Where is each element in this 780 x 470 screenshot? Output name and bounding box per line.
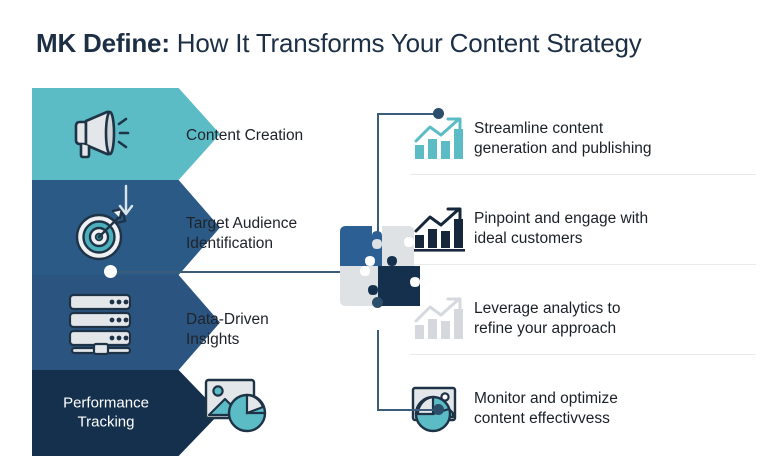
connector-dot-benefit-4 bbox=[433, 404, 444, 415]
connector-funnel-to-puzzle bbox=[110, 271, 340, 273]
stage-label-data-insights: Data-Driven Insights bbox=[186, 310, 269, 350]
stage-4-inner-label: Performance Tracking bbox=[40, 394, 172, 432]
bar-chart-growth-icon-teal bbox=[408, 115, 470, 163]
benefit-item-monitor[interactable]: Monitor and optimize content effectivves… bbox=[408, 366, 758, 452]
image-pie-icon-performance bbox=[203, 377, 271, 440]
megaphone-icon bbox=[66, 108, 132, 165]
benefit-item-streamline[interactable]: Streamline content generation and publis… bbox=[408, 96, 758, 182]
benefit-text-pinpoint: Pinpoint and engage with ideal customers bbox=[470, 209, 648, 250]
connector-dot-puzzle-top bbox=[372, 297, 383, 308]
page-title: MK Define: How It Transforms Your Conten… bbox=[36, 28, 642, 59]
page-title-rest: How It Transforms Your Content Strategy bbox=[170, 28, 642, 58]
flow-arrow-down-icon bbox=[118, 184, 134, 220]
benefit-text-monitor: Monitor and optimize content effectivves… bbox=[470, 389, 618, 430]
server-icon bbox=[62, 291, 142, 360]
benefits-list: Streamline content generation and publis… bbox=[408, 96, 758, 456]
page-title-strong: MK Define: bbox=[36, 28, 170, 58]
funnel-link-node bbox=[104, 265, 117, 278]
benefit-text-streamline: Streamline content generation and publis… bbox=[470, 119, 652, 160]
infographic-canvas: MK Define: How It Transforms Your Conten… bbox=[0, 0, 780, 470]
connector-vertical-bottom bbox=[377, 330, 379, 410]
benefit-item-leverage[interactable]: Leverage analytics to refine your approa… bbox=[408, 276, 758, 362]
stage-label-content-creation: Content Creation bbox=[186, 126, 303, 146]
benefit-text-leverage: Leverage analytics to refine your approa… bbox=[470, 299, 620, 340]
benefit-item-pinpoint[interactable]: Pinpoint and engage with ideal customers bbox=[408, 186, 758, 272]
connector-horizontal-top bbox=[377, 113, 439, 115]
connector-dot-benefit-1 bbox=[433, 108, 444, 119]
connector-horizontal-bottom bbox=[377, 409, 439, 411]
stage-label-target-audience: Target Audience Identification bbox=[186, 214, 297, 254]
funnel-stage-performance-tracking[interactable]: Performance Tracking bbox=[32, 370, 220, 456]
